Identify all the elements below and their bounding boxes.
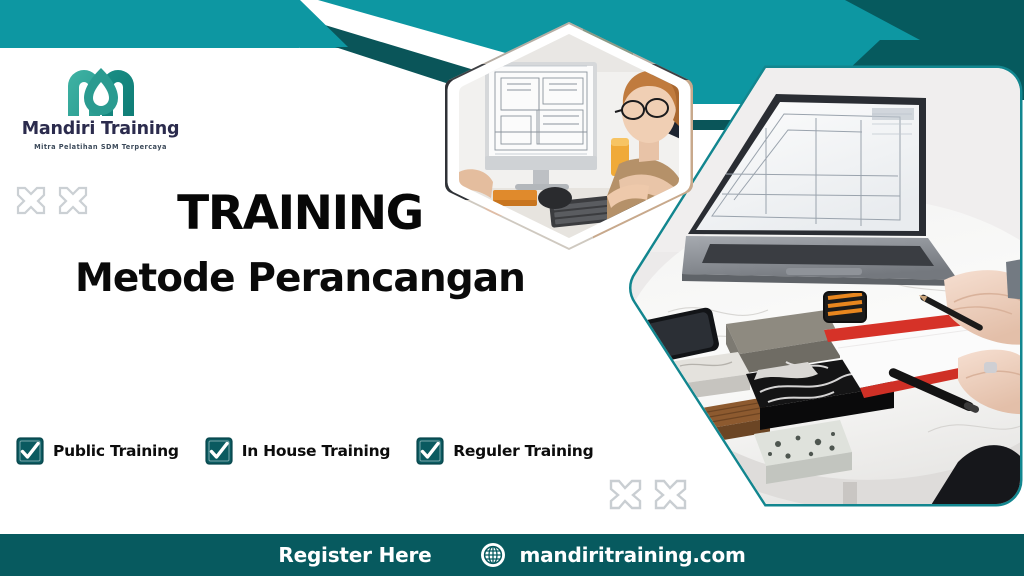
training-type-item[interactable]: Public Training (16, 437, 179, 465)
mandiri-monogram-icon (62, 58, 140, 118)
training-type-label: In House Training (242, 442, 391, 460)
checkbox-checked-icon[interactable] (205, 437, 233, 465)
register-here-label[interactable]: Register Here (278, 543, 431, 567)
website-label[interactable]: mandiritraining.com (520, 543, 746, 567)
training-type-item[interactable]: Reguler Training (416, 437, 593, 465)
checkbox-checked-icon[interactable] (416, 437, 444, 465)
training-type-item[interactable]: In House Training (205, 437, 391, 465)
brand-name: Mandiri Training (18, 120, 183, 139)
headline-eyebrow: TRAINING (0, 190, 600, 237)
training-type-label: Public Training (53, 442, 179, 460)
poster-canvas: Mandiri Training Mitra Pelatihan SDM Ter… (0, 0, 1024, 576)
globe-icon (480, 542, 506, 568)
headline-block: TRAINING Metode Perancangan (0, 190, 600, 298)
page-title: Metode Perancangan (0, 259, 600, 298)
brand-tagline: Mitra Pelatihan SDM Terpercaya (18, 143, 183, 151)
checkbox-checked-icon[interactable] (16, 437, 44, 465)
training-type-label: Reguler Training (453, 442, 593, 460)
training-types-list: Public Training In House Training Regule… (16, 437, 619, 465)
brand-logo[interactable]: Mandiri Training Mitra Pelatihan SDM Ter… (18, 58, 183, 151)
footer-bar: Register Here mandiritraining.com (0, 534, 1024, 576)
